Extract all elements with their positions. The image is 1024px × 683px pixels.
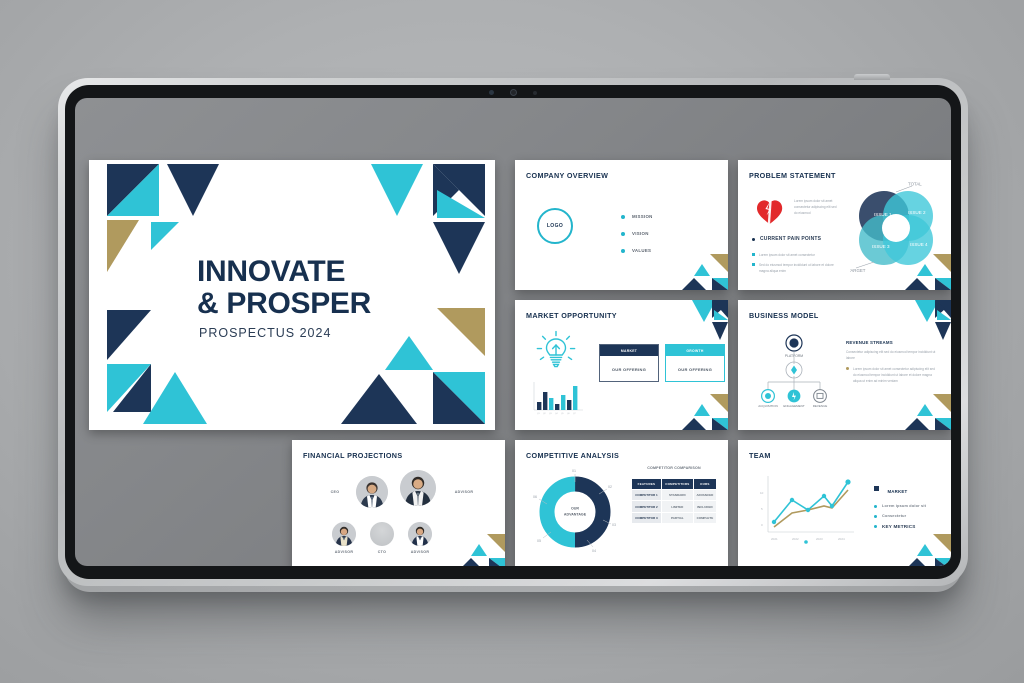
table-header-row: FEATURES COMPETITORS OURS xyxy=(632,479,716,489)
problem-subhead: CURRENT PAIN POINTS xyxy=(760,236,821,242)
logo-label: LOGO xyxy=(547,223,563,229)
svg-text:Q7: Q7 xyxy=(573,413,577,415)
pain-point-text: Sed do eiusmod tempor incididunt ut labo… xyxy=(759,262,838,274)
card-header: MARKET xyxy=(600,345,658,356)
column-header: COMPETITORS xyxy=(662,479,693,489)
svg-text:Q6: Q6 xyxy=(567,413,571,415)
legend-item: Lorem ipsum dolor sit xyxy=(874,504,926,508)
avatar-role-label: CTO xyxy=(364,550,400,554)
legend-dot-icon xyxy=(874,505,877,508)
venn-label: ISSUE 3 xyxy=(872,244,890,249)
table-cell: COMPLETE xyxy=(694,513,716,523)
person-photo-icon xyxy=(400,470,436,506)
donut-center-line2: ADVANTAGE xyxy=(564,512,586,518)
slide-problem-statement[interactable]: PROBLEM STATEMENT Lorem ipsum dolor sit … xyxy=(738,160,951,290)
detail-heading: REVENUE STREAMS xyxy=(846,340,938,345)
card-body: OUR OFFERING xyxy=(666,356,724,383)
slide-company-overview[interactable]: COMPANY OVERVIEW LOGO MISSION VISION xyxy=(515,160,728,290)
hero-title-line1: INNOVATE xyxy=(197,255,345,288)
table-cell: ADVANCED xyxy=(694,490,716,500)
problem-pain-list: Lorem ipsum dolor sit amet consectetur S… xyxy=(752,252,838,278)
slide-business-model[interactable]: BUSINESS MODEL xyxy=(738,300,951,430)
legend-title-row: MARKET xyxy=(874,480,926,498)
donut-tick-label: 02 xyxy=(608,485,612,489)
table-cell: INCLUDED xyxy=(694,501,716,511)
detail-bullet-text: Lorem ipsum dolor sit amet consectetur a… xyxy=(853,366,938,384)
slide-deck: INNOVATE & PROSPER PROSPECTUS 2024 COMPA… xyxy=(89,160,937,548)
diagram-node-label: ENGAGEMENT xyxy=(783,404,805,408)
person-photo-icon xyxy=(332,522,356,546)
table-cell: COMPETITOR 3 xyxy=(632,513,661,523)
table-row: COMPETITOR 2 LIMITED INCLUDED xyxy=(632,501,716,511)
x-axis-tick: 2022 xyxy=(792,537,799,541)
table-cell: STANDARD xyxy=(662,490,693,500)
legend-label: Lorem ipsum dolor sit xyxy=(882,504,926,508)
table-cell: COMPETITOR 1 xyxy=(632,490,661,500)
bullet-dot-icon xyxy=(621,215,625,219)
tablet-bezel: INNOVATE & PROSPER PROSPECTUS 2024 COMPA… xyxy=(65,85,961,579)
offering-card-growth[interactable]: GROWTH OUR OFFERING xyxy=(665,344,725,382)
bullet-label: VALUES xyxy=(632,248,651,253)
legend-dot-icon xyxy=(874,525,877,528)
venn-label: ISSUE 2 xyxy=(908,210,926,215)
legend-square-icon xyxy=(874,486,879,491)
front-camera-icon xyxy=(510,89,517,96)
line-chart: 0 5 10 2021 2022 2023 2024 xyxy=(754,470,858,548)
donut-tick-label: 01 xyxy=(572,469,576,473)
table-caption: COMPETITOR COMPARISON xyxy=(631,466,717,470)
legend-title: MARKET xyxy=(887,489,907,494)
avatar xyxy=(400,470,436,506)
list-item: MISSION xyxy=(621,208,653,225)
avatar-role-label: ADVISOR xyxy=(402,550,438,554)
corner-decor xyxy=(672,388,728,430)
detail-paragraph: Consectetur adipiscing elit sed do eiusm… xyxy=(846,349,938,361)
avatar-empty xyxy=(370,522,394,546)
venn-label: ISSUE 1 xyxy=(874,212,892,217)
svg-text:Q4: Q4 xyxy=(555,413,559,415)
slide-title-text: FINANCIAL PROJECTIONS xyxy=(303,451,402,460)
slide-financial-projections[interactable]: FINANCIAL PROJECTIONS CEO xyxy=(292,440,505,566)
avatar-role-label: ADVISOR xyxy=(442,490,486,494)
offering-card-market[interactable]: MARKET OUR OFFERING xyxy=(599,344,659,382)
table-cell: LIMITED xyxy=(662,501,693,511)
list-item: Lorem ipsum dolor sit amet consectetur xyxy=(752,252,838,258)
hero-title-line2: & PROSPER xyxy=(197,288,371,320)
donut-chart: 01 02 03 04 05 06 OUR ADVANTAGE xyxy=(531,468,619,556)
svg-text:Q2: Q2 xyxy=(543,413,547,415)
logo-placeholder: LOGO xyxy=(537,208,573,244)
slide-title-text: BUSINESS MODEL xyxy=(749,311,819,320)
bar-chart: Q1Q2Q3 Q4Q5Q6 Q7 xyxy=(529,380,585,416)
bullet-dot-icon xyxy=(846,367,849,370)
avatar-role-label: ADVISOR xyxy=(326,550,362,554)
donut-tick-label: 04 xyxy=(592,549,596,553)
donut-center-label: OUR ADVANTAGE xyxy=(564,506,586,518)
bullet-dot-icon xyxy=(621,232,625,236)
table-row: COMPETITOR 3 PARTIAL COMPLETE xyxy=(632,513,716,523)
legend-item: Consectetur xyxy=(874,514,926,518)
bullet-square-icon xyxy=(752,253,755,256)
corner-decor xyxy=(895,388,951,430)
list-item: Lorem ipsum dolor sit amet consectetur a… xyxy=(846,366,938,384)
list-item: VISION xyxy=(621,225,653,242)
corner-decor xyxy=(672,248,728,290)
table-cell: PARTIAL xyxy=(662,513,693,523)
card-header: GROWTH xyxy=(666,345,724,356)
donut-tick-label: 06 xyxy=(533,495,537,499)
slide-title-text: COMPETITIVE ANALYSIS xyxy=(526,451,619,460)
corner-decor xyxy=(895,300,951,340)
person-photo-icon xyxy=(408,522,432,546)
venn-label: ISSUE 4 xyxy=(910,242,928,247)
venn-callout-total: TOTAL xyxy=(908,182,922,186)
list-item: VALUES xyxy=(621,242,653,259)
broken-heart-icon xyxy=(756,198,784,226)
table-row: COMPETITOR 1 STANDARD ADVANCED xyxy=(632,490,716,500)
slide-title[interactable]: INNOVATE & PROSPER PROSPECTUS 2024 xyxy=(89,160,495,430)
donut-tick-label: 05 xyxy=(537,539,541,543)
legend-label: Consectetur xyxy=(882,514,906,518)
overview-bullet-list: MISSION VISION VALUES xyxy=(621,208,653,259)
camera-sensor-group xyxy=(489,89,537,96)
svg-text:Q5: Q5 xyxy=(561,413,565,415)
hero-subtitle: PROSPECTUS 2024 xyxy=(199,326,331,340)
light-sensor-icon xyxy=(533,91,537,95)
bullet-label: VISION xyxy=(632,231,649,236)
column-header: FEATURES xyxy=(632,479,661,489)
legend-dot-icon xyxy=(874,515,877,518)
avatar xyxy=(408,522,432,546)
slide-team[interactable]: TEAM 0 5 10 2021 2022 2023 2024 xyxy=(738,440,951,566)
slide-title-text: COMPANY OVERVIEW xyxy=(526,171,608,180)
problem-paragraph: Lorem ipsum dolor sit amet consectetur a… xyxy=(794,198,840,216)
business-model-detail: REVENUE STREAMS Consectetur adipiscing e… xyxy=(846,340,938,384)
line-series-market-points xyxy=(772,479,851,524)
column-header: OURS xyxy=(694,479,716,489)
bullet-dot-icon xyxy=(621,249,625,253)
business-model-diagram: PLATFORM ACQUISITION ENGAGEMENT REVENUE xyxy=(754,330,834,410)
list-item: Sed do eiusmod tempor incididunt ut labo… xyxy=(752,262,838,274)
hero-title: INNOVATE & PROSPER xyxy=(197,256,371,321)
tablet-device: INNOVATE & PROSPER PROSPECTUS 2024 COMPA… xyxy=(58,78,968,586)
chart-legend: MARKET Lorem ipsum dolor sit Consectetur xyxy=(874,480,926,529)
slide-competitive-analysis[interactable]: COMPETITIVE ANALYSIS xyxy=(515,440,728,566)
lightbulb-icon xyxy=(533,330,579,370)
bullet-label: MISSION xyxy=(632,214,653,219)
x-axis-tick: 2023 xyxy=(816,537,823,541)
legend-marker-icon xyxy=(804,540,808,544)
svg-text:Q1: Q1 xyxy=(537,413,541,415)
venn-callout-target: TARGET xyxy=(850,268,866,273)
diagram-node-label: ACQUISITION xyxy=(758,404,778,408)
svg-text:Q3: Q3 xyxy=(549,413,553,415)
corner-decor xyxy=(449,528,505,566)
donut-tick-label: 03 xyxy=(612,523,616,527)
avatar xyxy=(356,476,388,508)
power-button[interactable] xyxy=(854,74,890,80)
y-axis-tick: 5 xyxy=(761,507,763,511)
slide-title-text: MARKET OPPORTUNITY xyxy=(526,311,617,320)
y-axis-tick: 10 xyxy=(760,491,764,495)
corner-decor xyxy=(895,248,951,290)
diagram-node-label: REVENUE xyxy=(813,404,828,408)
pain-point-text: Lorem ipsum dolor sit amet consectetur xyxy=(759,252,815,258)
corner-decor xyxy=(895,528,951,566)
corner-decor xyxy=(672,300,728,340)
y-axis-tick: 0 xyxy=(761,523,763,527)
bullet-square-icon xyxy=(752,263,755,266)
bullet-dot-icon xyxy=(752,238,755,241)
sensor-dot-icon xyxy=(489,90,494,95)
slide-title-text: PROBLEM STATEMENT xyxy=(749,171,836,180)
avatar-role-label: CEO xyxy=(318,490,352,494)
tablet-screen: INNOVATE & PROSPER PROSPECTUS 2024 COMPA… xyxy=(75,98,951,566)
comparison-table: FEATURES COMPETITORS OURS COMPETITOR 1 S… xyxy=(631,478,717,524)
card-body: OUR OFFERING xyxy=(600,356,658,383)
slide-title-text: TEAM xyxy=(749,451,771,460)
slide-market-opportunity[interactable]: MARKET OPPORTUNITY xyxy=(515,300,728,430)
table-cell: COMPETITOR 2 xyxy=(632,501,661,511)
person-photo-icon xyxy=(356,476,388,508)
x-axis-tick: 2024 xyxy=(838,537,845,541)
x-axis-tick: 2021 xyxy=(771,537,778,541)
avatar xyxy=(332,522,356,546)
diagram-top-label: PLATFORM xyxy=(785,354,803,358)
